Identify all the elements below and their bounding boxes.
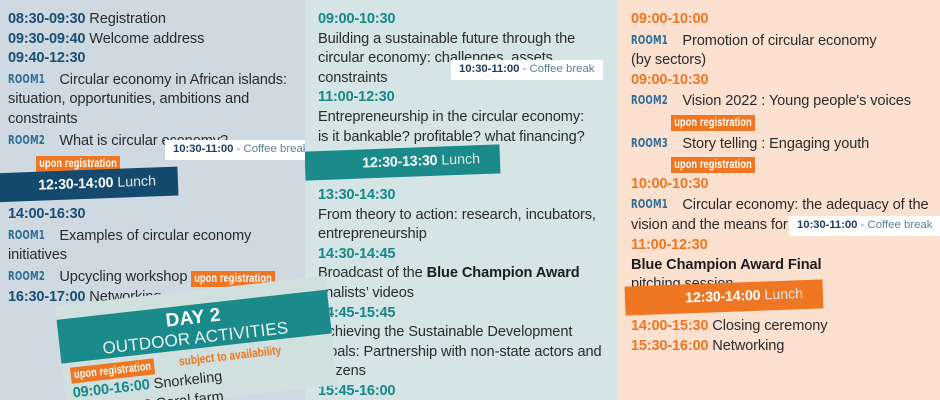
agenda-row: situation, opportunities, ambitions and [8, 90, 299, 110]
coffee-break-chip: 10:30-11:00 - Coffee break [789, 216, 940, 236]
row-time: 08:30-09:30 [8, 11, 85, 27]
lunch-bar: 12:30-13:30 Lunch [305, 144, 500, 180]
row-text: Broadcast of the [318, 265, 427, 281]
coffee-time: 10:30-11:00 [797, 219, 857, 231]
lunch-time: 12:30-14:00 [38, 175, 114, 194]
row-time: 14:30-14:45 [318, 246, 395, 262]
row-text: constraints [318, 70, 387, 86]
room-badge: ROOM2 [8, 130, 45, 150]
agenda-row: entrepreneurship [318, 225, 613, 245]
row-time: 11:00-12:30 [318, 89, 395, 105]
coffee-break-chip: 10:30-11:00 - Coffee break [165, 140, 305, 160]
row-text-bold: Blue Champion Award [427, 265, 580, 281]
room-badge: ROOM1 [631, 30, 668, 50]
room-badge: ROOM2 [8, 266, 45, 286]
row-text: is it bankable? profitable? what financi… [318, 129, 585, 145]
lunch-label: Lunch [117, 173, 156, 190]
lunch-bar: 12:30-14:00 Lunch [625, 279, 824, 315]
agenda-row: 09:00-10:30 [631, 71, 934, 91]
agenda-row: From theory to action: research, incubat… [318, 206, 613, 226]
row-time: 09:00-10:30 [631, 72, 708, 88]
agenda-row: 15:45-16:00 [318, 382, 613, 400]
row-time: 09:40-12:30 [8, 50, 85, 66]
room-badge: ROOM3 [631, 133, 668, 153]
room-badge: ROOM1 [631, 194, 668, 214]
agenda-row: Goals: Partnership with non-state actors… [318, 343, 613, 363]
row-time: 11:00-12:30 [631, 237, 708, 253]
agenda-row: ROOM1 Examples of circular economy initi… [8, 225, 299, 266]
row-time: 10:00-10:30 [631, 176, 708, 192]
row-text-bold: Blue Champion Award Final [631, 257, 821, 273]
agenda-row: Building a sustainable future through th… [318, 30, 611, 50]
lunch-time: 12:30-14:00 [685, 288, 761, 307]
agenda-row: citizens [318, 362, 613, 382]
agenda-row: Entrepreneurship in the circular economy… [318, 108, 611, 128]
agenda-row: Achieving the Sustainable Development [318, 323, 613, 343]
row-time: 13:30-14:30 [318, 187, 395, 203]
agenda-row: 09:40-12:30 [8, 49, 299, 69]
row-text: From theory to action: research, incubat… [318, 207, 596, 223]
agenda-row: upon registration [631, 112, 934, 133]
room-badge: ROOM1 [8, 225, 45, 245]
agenda-row: 09:00-10:30 [318, 10, 611, 30]
agenda-row: 11:00-12:30 [631, 236, 936, 256]
row-time: 14:00-16:30 [8, 206, 85, 222]
row-text: Upcycling workshop [59, 269, 187, 285]
row-text: Registration [89, 11, 166, 27]
day4-afternoon-block: 14:00-15:30 Closing ceremony 15:30-16:00… [631, 317, 936, 356]
agenda-row: 09:00-10:00 [631, 10, 934, 30]
coffee-time: 10:30-11:00 [459, 63, 519, 75]
row-text: Closing ceremony [712, 318, 827, 334]
agenda-row: ROOM2 Vision 2022 : Young people's voice… [631, 90, 934, 112]
agenda-row: upon registration [631, 154, 934, 175]
coffee-label: - Coffee break [237, 143, 305, 155]
day3-column: 09:00-10:30 Building a sustainable futur… [305, 0, 617, 400]
row-text: situation, opportunities, ambitions and [8, 91, 249, 107]
agenda-row: 09:30-09:40 Welcome address [8, 30, 299, 50]
lunch-label: Lunch [764, 286, 803, 303]
row-text: Story telling : Engaging youth [682, 136, 869, 152]
upon-registration-badge: upon registration [671, 157, 755, 173]
agenda-row: 14:00-15:30 Closing ceremony [631, 317, 936, 337]
row-time: 09:00-10:00 [631, 11, 708, 27]
row-text: constraints [8, 111, 77, 127]
agenda-row: 14:30-14:45 [318, 245, 613, 265]
agenda-row: ROOM3 Story telling : Engaging youth [631, 133, 934, 155]
row-text: Welcome address [89, 31, 204, 47]
agenda-row: ROOM1 Promotion of circular economy [631, 30, 934, 52]
agenda-poster: 08:30-09:30 Registration 09:30-09:40 Wel… [0, 0, 940, 400]
row-time: 09:30-09:40 [8, 31, 85, 47]
row-text: Circular economy in African islands: [59, 72, 287, 88]
lunch-time: 12:30-13:30 [362, 153, 438, 172]
row-text: Promotion of circular economy [682, 33, 876, 49]
row-time: 14:00-15:30 [631, 318, 708, 334]
coffee-time: 10:30-11:00 [173, 143, 233, 155]
coffee-break-chip: 10:30-11:00 - Coffee break [451, 60, 603, 80]
coffee-label: - Coffee break [523, 63, 595, 75]
row-text: Building a sustainable future through th… [318, 31, 575, 47]
agenda-row: (by sectors) [631, 51, 934, 71]
row-text: entrepreneurship [318, 226, 427, 242]
row-text: Entrepreneurship in the circular economy… [318, 109, 584, 125]
day3-afternoon-block: 13:30-14:30 From theory to action: resea… [318, 186, 613, 400]
row-text: Circular economy: the adequacy of the [682, 197, 928, 213]
agenda-row: constraints [8, 110, 299, 130]
agenda-row: 10:00-10:30 [631, 175, 934, 195]
agenda-row: 11:00-12:30 [318, 88, 611, 108]
agenda-row: is it bankable? profitable? what financi… [318, 128, 611, 148]
row-text: Achieving the Sustainable Development [318, 324, 572, 340]
agenda-row: 14:45-15:45 [318, 304, 613, 324]
room-badge: ROOM1 [8, 69, 45, 89]
room-badge: ROOM2 [631, 90, 668, 110]
agenda-row: Blue Champion Award Final [631, 256, 936, 276]
agenda-row: 15:30-16:00 Networking [631, 337, 936, 357]
lunch-label: Lunch [441, 151, 480, 168]
agenda-row: 13:30-14:30 [318, 186, 613, 206]
row-text: (by sectors) [631, 52, 706, 68]
row-text: Vision 2022 : Young people's voices [682, 93, 911, 109]
agenda-row: 14:00-16:30 [8, 205, 299, 225]
row-time: 09:00-10:30 [318, 11, 395, 27]
agenda-row: ROOM1 Circular economy: the adequacy of … [631, 194, 934, 216]
agenda-row: ROOM1 Circular economy in African island… [8, 69, 299, 91]
day4-column: 09:00-10:00 ROOM1 Promotion of circular … [617, 0, 940, 400]
agenda-row: Broadcast of the Blue Champion Award [318, 264, 613, 284]
row-text: Goals: Partnership with non-state actors… [318, 344, 602, 360]
row-time: 15:30-16:00 [631, 338, 708, 354]
row-text: finalists’ videos [318, 285, 414, 301]
upon-registration-badge: upon registration [671, 115, 755, 131]
agenda-row: finalists’ videos [318, 284, 613, 304]
coffee-label: - Coffee break [861, 219, 933, 231]
lunch-bar: 12:30-14:00 Lunch [0, 167, 178, 203]
agenda-row: 08:30-09:30 Registration [8, 10, 299, 30]
row-text: Networking [712, 338, 784, 354]
